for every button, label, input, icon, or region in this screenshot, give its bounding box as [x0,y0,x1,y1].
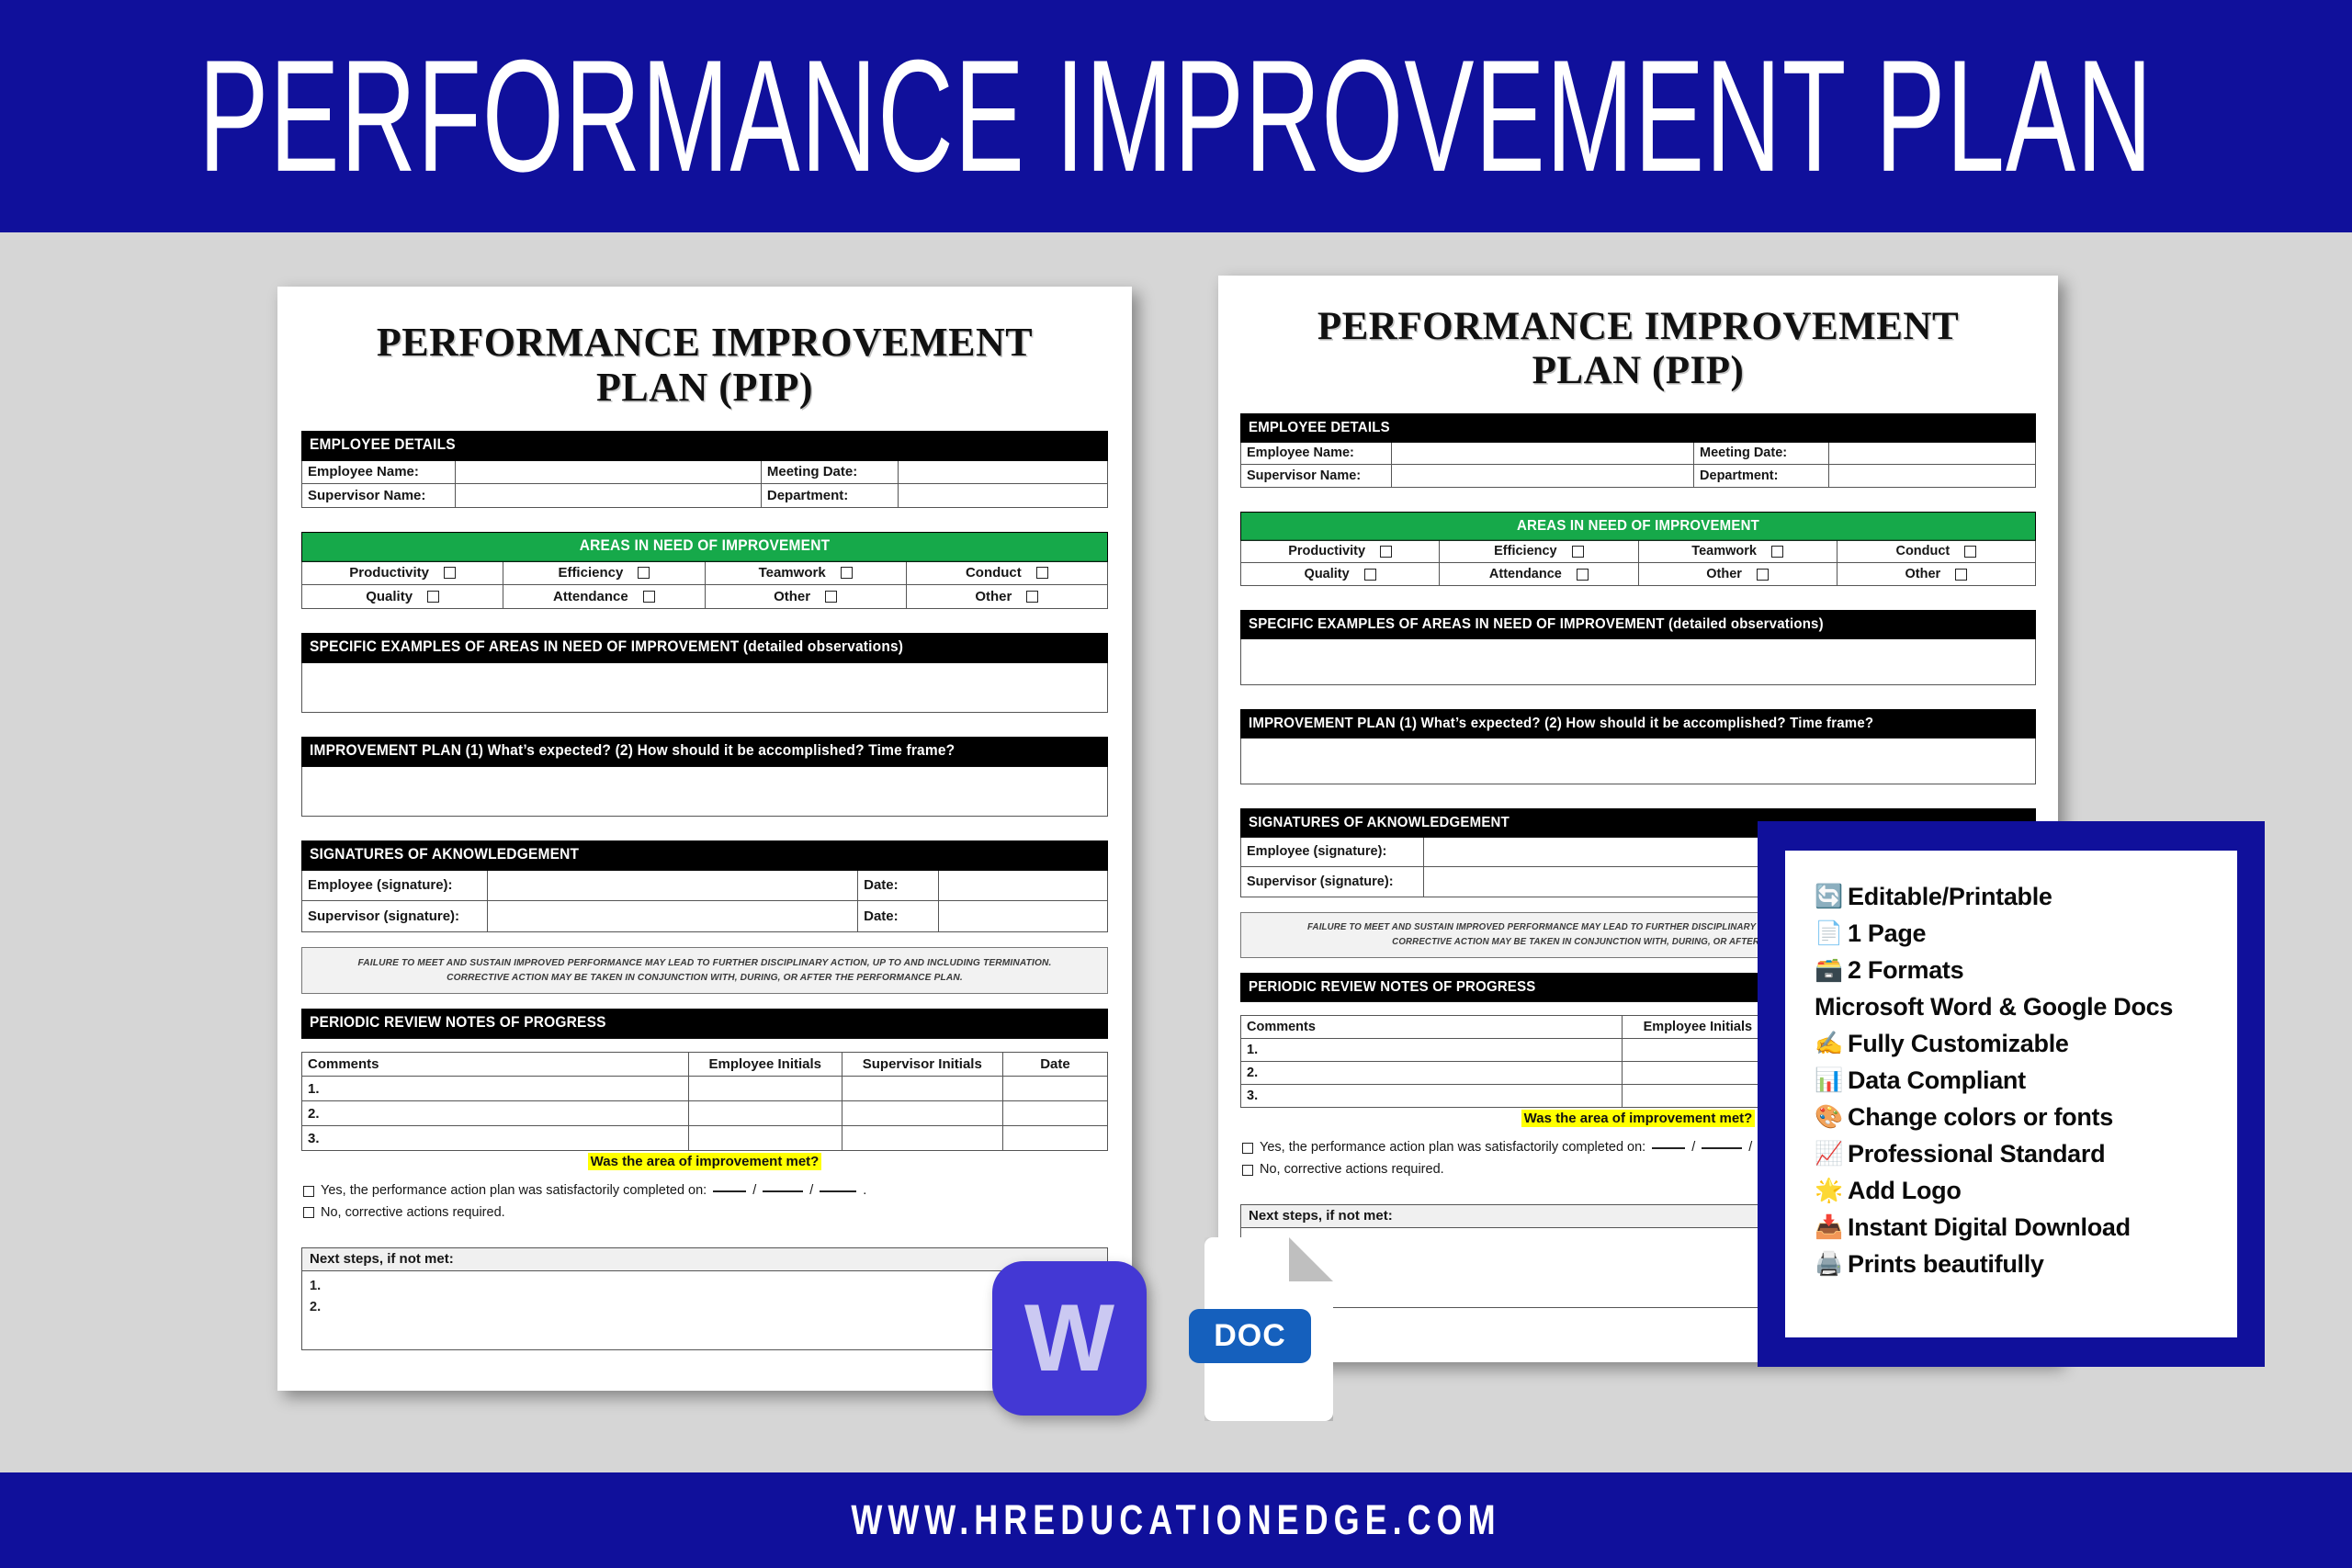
date-blank-year[interactable] [820,1190,856,1192]
signatures-table: Employee (signature): Date: Supervisor (… [301,869,1108,932]
supervisor-name-field[interactable] [455,483,761,507]
area-cell[interactable]: Other [1837,563,2035,586]
area-label: Other [975,589,1012,604]
checkbox-icon[interactable] [841,567,853,579]
doc-folded-corner-icon [1289,1237,1333,1281]
document-preview-page-1[interactable]: PERFORMANCE IMPROVEMENT PLAN (PIP) EMPLO… [277,287,1132,1391]
review-row-number: 2. [1241,1062,1623,1085]
table-row: Supervisor Name: Department: [302,483,1108,507]
option-yes-period: . [863,1180,866,1201]
review-supervisor-initials[interactable] [842,1077,1002,1101]
supervisor-signature-field[interactable] [487,900,857,931]
feature-label: Instant Digital Download [1848,1209,2131,1247]
periodic-review-table: Comments Employee Initials Supervisor In… [301,1052,1108,1151]
feature-label: Professional Standard [1848,1135,2105,1173]
col-comments: Comments [1241,1016,1623,1039]
document-title: PERFORMANCE IMPROVEMENT PLAN (PIP) [1240,305,2036,393]
document-title-line-1: PERFORMANCE IMPROVEMENT [327,320,1082,365]
review-row-number: 3. [302,1126,689,1151]
review-supervisor-initials[interactable] [842,1101,1002,1126]
option-no-label: No, corrective actions required. [321,1202,505,1224]
area-label: Quality [1305,567,1350,581]
meeting-date-field[interactable] [898,459,1107,483]
improvement-question: Was the area of improvement met? [1521,1110,1756,1127]
area-cell[interactable]: Attendance [1440,563,1638,586]
document-title: PERFORMANCE IMPROVEMENT PLAN (PIP) [301,320,1108,411]
feature-item-fully-customizable: ✍️ Fully Customizable [1815,1025,2237,1062]
area-label: Efficiency [1494,544,1557,558]
review-row-number: 3. [1241,1085,1623,1108]
next-steps-body[interactable]: 1. 2. [301,1271,1108,1350]
department-field[interactable] [898,483,1107,507]
document-title-line-1: PERFORMANCE IMPROVEMENT [1261,305,2016,349]
col-supervisor-initials: Supervisor Initials [842,1053,1002,1077]
next-steps-header: Next steps, if not met: [301,1247,1108,1271]
area-label: Attendance [553,589,628,604]
area-cell[interactable]: Quality [302,584,503,608]
feature-item-1-page: 📄 1 Page [1815,915,2237,952]
improvement-plan-band: IMPROVEMENT PLAN (1) What’s expected? (2… [301,737,1108,767]
employee-signature-label: Employee (signature): [302,869,488,900]
checkbox-icon[interactable] [638,567,650,579]
area-cell[interactable]: Other [906,584,1107,608]
checkbox-icon[interactable] [1955,569,1967,581]
table-row: Quality Attendance Other Other [302,584,1108,608]
col-date: Date [1002,1053,1107,1077]
bar-chart-icon: 📊 [1815,1069,1842,1092]
department-label: Department: [761,483,898,507]
improvement-plan-input[interactable] [301,765,1108,817]
checkbox-icon[interactable] [303,1186,314,1197]
area-cell[interactable]: Productivity [1241,540,1440,563]
feature-item-change-colors: 🎨 Change colors or fonts [1815,1099,2237,1135]
doc-format-badge: DOC [1189,1309,1311,1363]
col-employee-initials: Employee Initials [1623,1016,1773,1039]
employee-details-table: Employee Name: Meeting Date: Supervisor … [1240,441,2036,488]
checkbox-icon[interactable] [303,1207,314,1218]
doc-file-icon[interactable]: DOC [1204,1237,1333,1421]
option-no-row[interactable]: No, corrective actions required. [303,1202,1108,1224]
table-row: 3. [302,1126,1108,1151]
area-cell[interactable]: Efficiency [503,560,705,584]
checkbox-icon[interactable] [1380,546,1392,558]
review-date[interactable] [1002,1077,1107,1101]
feature-label: Change colors or fonts [1848,1099,2113,1136]
feature-item-add-logo: 🌟 Add Logo [1815,1172,2237,1209]
area-label: Conduct [1895,544,1950,558]
employee-details-table: Employee Name: Meeting Date: Supervisor … [301,459,1108,508]
review-row-number: 2. [302,1101,689,1126]
review-supervisor-initials[interactable] [842,1126,1002,1151]
review-employee-initials[interactable] [688,1126,842,1151]
supervisor-date-label: Date: [858,900,939,931]
option-yes-row[interactable]: Yes, the performance action plan was sat… [303,1180,1108,1201]
supervisor-signature-label: Supervisor (signature): [302,900,488,931]
features-panel: 🔄 Editable/Printable 📄 1 Page 🗃️ 2 Forma… [1758,821,2265,1367]
trending-up-icon: 📈 [1815,1143,1842,1166]
star-icon: 🌟 [1815,1179,1842,1202]
table-row: Comments Employee Initials Supervisor In… [302,1053,1108,1077]
area-cell[interactable]: Quality [1241,563,1440,586]
feature-item-editable-printable: 🔄 Editable/Printable [1815,878,2237,915]
card-file-box-icon: 🗃️ [1815,959,1842,982]
review-date[interactable] [1002,1101,1107,1126]
checkbox-icon[interactable] [444,567,456,579]
checkbox-icon[interactable] [1577,569,1589,581]
specific-examples-band: SPECIFIC EXAMPLES OF AREAS IN NEED OF IM… [1240,610,2036,639]
table-row: Supervisor (signature): Date: [302,900,1108,931]
feature-label: Microsoft Word & Google Docs [1815,988,2173,1026]
area-cell[interactable]: Conduct [906,560,1107,584]
date-blank-day[interactable] [763,1190,803,1192]
date-blank-month[interactable] [1652,1147,1685,1149]
checkbox-icon[interactable] [1572,546,1584,558]
area-cell[interactable]: Other [705,584,906,608]
word-icon-glyph: W [1024,1291,1114,1386]
option-no-label: No, corrective actions required. [1260,1159,1444,1180]
doc-badge-label: DOC [1214,1318,1286,1354]
checkbox-icon[interactable] [1757,569,1769,581]
areas-table: Productivity Efficiency Teamwork Conduct… [301,560,1108,609]
feature-label: 2 Formats [1848,952,1963,989]
header-banner: PERFORMANCE IMPROVEMENT PLAN [0,0,2352,232]
feature-item-prints-beautifully: 🖨️ Prints beautifully [1815,1246,2237,1282]
employee-date-label: Date: [858,869,939,900]
checkbox-icon[interactable] [1771,546,1783,558]
feature-item-data-compliant: 📊 Data Compliant [1815,1062,2237,1099]
checkbox-icon[interactable] [427,591,439,603]
date-blank-day[interactable] [1702,1147,1742,1149]
meeting-date-label: Meeting Date: [1694,442,1829,465]
employee-details-band: EMPLOYEE DETAILS [301,431,1108,461]
slash-2: / [1748,1137,1752,1158]
areas-band: AREAS IN NEED OF IMPROVEMENT [301,532,1108,562]
improvement-question: Was the area of improvement met? [588,1153,822,1170]
microsoft-word-icon[interactable]: W [992,1261,1147,1416]
writing-hand-icon: ✍️ [1815,1032,1842,1055]
palette-icon: 🎨 [1815,1106,1842,1129]
review-row-number: 1. [302,1077,689,1101]
col-employee-initials: Employee Initials [688,1053,842,1077]
poster-canvas: PERFORMANCE IMPROVEMENT PLAN PERFORMANCE… [0,0,2352,1568]
disclaimer-box: FAILURE TO MEET AND SUSTAIN IMPROVED PER… [301,947,1108,995]
areas-table: Productivity Efficiency Teamwork Conduct… [1240,539,2036,586]
area-label: Teamwork [759,565,826,581]
signatures-band: SIGNATURES OF AKNOWLEDGEMENT [301,840,1108,871]
table-row: 1. [302,1077,1108,1101]
area-cell[interactable]: Teamwork [1638,540,1837,563]
area-label: Productivity [1288,544,1365,558]
website-url: WWW.HREDUCATIONEDGE.COM [851,1496,1500,1545]
area-label: Productivity [349,565,429,581]
supervisor-signature-label: Supervisor (signature): [1241,867,1424,897]
checkbox-icon[interactable] [1242,1165,1253,1176]
next-step-item: 2. [310,1297,1100,1318]
review-employee-initials[interactable] [1623,1062,1773,1085]
table-row: Employee (signature): Date: [302,869,1108,900]
supervisor-date-field[interactable] [938,900,1107,931]
document-title-line-2: PLAN (PIP) [327,365,1082,410]
col-comments: Comments [302,1053,689,1077]
review-date[interactable] [1002,1126,1107,1151]
slash-1: / [752,1180,756,1201]
meeting-date-field[interactable] [1829,442,2036,465]
supervisor-signature-field[interactable] [1423,867,1789,897]
table-row: Employee Name: Meeting Date: [302,459,1108,483]
area-label: Attendance [1489,567,1562,581]
disclaimer-line-1: FAILURE TO MEET AND SUSTAIN IMPROVED PER… [331,955,1080,970]
slash-1: / [1691,1137,1695,1158]
feature-label: Add Logo [1848,1172,1962,1210]
feature-label: Editable/Printable [1848,878,2052,916]
employee-date-field[interactable] [938,869,1107,900]
checkbox-icon[interactable] [825,591,837,603]
specific-examples-band: SPECIFIC EXAMPLES OF AREAS IN NEED OF IM… [301,633,1108,663]
table-row: Productivity Efficiency Teamwork Conduct [302,560,1108,584]
area-cell[interactable]: Productivity [302,560,503,584]
feature-item-2-formats: 🗃️ 2 Formats [1815,952,2237,988]
page-icon: 📄 [1815,922,1842,945]
option-yes-label: Yes, the performance action plan was sat… [321,1180,707,1201]
feature-label: 1 Page [1848,915,1926,953]
checkbox-icon[interactable] [1364,569,1376,581]
table-row: Employee Name: Meeting Date: [1241,442,2036,465]
area-cell[interactable]: Conduct [1837,540,2035,563]
area-cell[interactable]: Teamwork [705,560,906,584]
checkbox-icon[interactable] [1036,567,1048,579]
supervisor-name-label: Supervisor Name: [302,483,456,507]
checkbox-icon[interactable] [643,591,655,603]
checkbox-icon[interactable] [1242,1143,1253,1154]
area-label: Other [774,589,810,604]
improvement-plan-input[interactable] [1240,737,2036,784]
feature-item-professional-standard: 📈 Professional Standard [1815,1135,2237,1172]
printer-icon: 🖨️ [1815,1253,1842,1276]
employee-signature-label: Employee (signature): [1241,837,1424,867]
footer-banner: WWW.HREDUCATIONEDGE.COM [0,1472,2352,1568]
date-blank-month[interactable] [713,1190,746,1192]
area-label: Teamwork [1691,544,1757,558]
department-label: Department: [1694,465,1829,488]
next-step-item: 1. [310,1276,1100,1297]
inbox-tray-icon: 📥 [1815,1216,1842,1239]
department-field[interactable] [1829,465,2036,488]
outcome-options: Yes, the performance action plan was sat… [301,1180,1108,1224]
slash-2: / [809,1180,813,1201]
employee-name-label: Employee Name: [302,459,456,483]
review-employee-initials[interactable] [688,1101,842,1126]
checkbox-icon[interactable] [1026,591,1038,603]
table-row: Supervisor Name: Department: [1241,465,2036,488]
area-label: Other [1905,567,1941,581]
area-label: Other [1706,567,1742,581]
review-employee-initials[interactable] [1623,1085,1773,1108]
review-employee-initials[interactable] [1623,1039,1773,1062]
improvement-plan-band: IMPROVEMENT PLAN (1) What’s expected? (2… [1240,709,2036,739]
employee-name-label: Employee Name: [1241,442,1392,465]
disclaimer-line-2: CORRECTIVE ACTION MAY BE TAKEN IN CONJUN… [331,970,1080,985]
specific-examples-input[interactable] [1240,637,2036,685]
feature-item-formats-detail: Microsoft Word & Google Docs [1815,988,2237,1025]
employee-name-field[interactable] [1392,442,1694,465]
feature-label: Fully Customizable [1848,1025,2069,1063]
review-row-number: 1. [1241,1039,1623,1062]
table-row: Productivity Efficiency Teamwork Conduct [1241,540,2036,563]
table-row: Quality Attendance Other Other [1241,563,2036,586]
area-label: Efficiency [558,565,623,581]
employee-signature-field[interactable] [487,869,857,900]
area-label: Conduct [966,565,1022,581]
feature-label: Data Compliant [1848,1062,2026,1100]
meeting-date-label: Meeting Date: [761,459,898,483]
employee-details-band: EMPLOYEE DETAILS [1240,413,2036,443]
employee-signature-field[interactable] [1423,837,1789,867]
area-cell[interactable]: Other [1638,563,1837,586]
feature-label: Prints beautifully [1848,1246,2044,1283]
feature-item-instant-download: 📥 Instant Digital Download [1815,1209,2237,1246]
page-title: PERFORMANCE IMPROVEMENT PLAN [198,37,2153,197]
employee-name-field[interactable] [455,459,761,483]
specific-examples-input[interactable] [301,661,1108,713]
areas-band: AREAS IN NEED OF IMPROVEMENT [1240,512,2036,541]
supervisor-name-field[interactable] [1392,465,1694,488]
area-cell[interactable]: Efficiency [1440,540,1638,563]
area-cell[interactable]: Attendance [503,584,705,608]
periodic-review-band: PERIODIC REVIEW NOTES OF PROGRESS [301,1009,1108,1039]
refresh-icon: 🔄 [1815,886,1842,908]
table-row: 2. [302,1101,1108,1126]
document-title-line-2: PLAN (PIP) [1261,349,2016,393]
option-yes-label: Yes, the performance action plan was sat… [1260,1137,1645,1158]
area-label: Quality [366,589,413,604]
review-employee-initials[interactable] [688,1077,842,1101]
checkbox-icon[interactable] [1964,546,1976,558]
improvement-question-wrap: Was the area of improvement met? [301,1154,1108,1170]
features-list: 🔄 Editable/Printable 📄 1 Page 🗃️ 2 Forma… [1785,851,2237,1337]
supervisor-name-label: Supervisor Name: [1241,465,1392,488]
